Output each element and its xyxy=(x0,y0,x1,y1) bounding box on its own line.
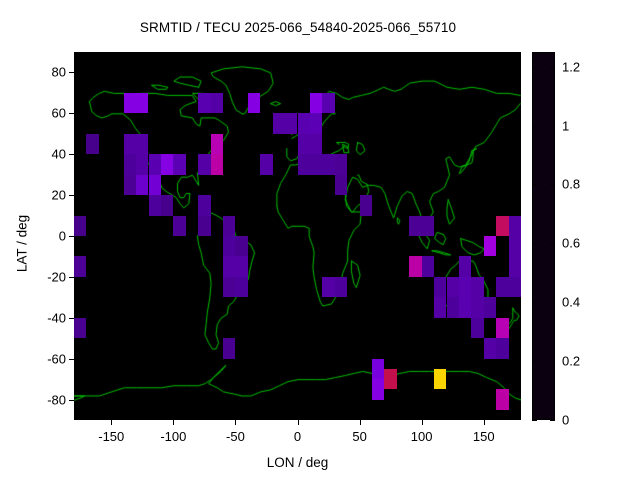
x-axis-title: LON / deg xyxy=(74,455,521,470)
colorbar-tick xyxy=(550,420,555,421)
heatmap-cell xyxy=(384,369,396,389)
x-axis-tick-label: 0 xyxy=(294,429,301,444)
heatmap-cell xyxy=(211,154,223,174)
heatmap-cell xyxy=(372,359,384,379)
heatmap-cell xyxy=(434,297,446,317)
colorbar-tick-label: 0.2 xyxy=(562,354,580,369)
x-axis-tick xyxy=(173,420,174,425)
colorbar-tick-label: 0.4 xyxy=(562,295,580,310)
heatmap-cell xyxy=(322,93,334,113)
colorbar-tick xyxy=(532,361,537,362)
colorbar-tick xyxy=(532,67,537,68)
colorbar xyxy=(532,52,555,420)
colorbar-tick xyxy=(550,302,555,303)
x-axis-tick-label: 100 xyxy=(411,429,433,444)
colorbar-tick-label: 1 xyxy=(562,118,569,133)
heatmap-cell xyxy=(310,93,322,113)
x-axis-tick-label: 150 xyxy=(473,429,495,444)
colorbar-tick xyxy=(532,184,537,185)
heatmap-cell xyxy=(322,277,334,297)
heatmap-cell xyxy=(471,318,483,338)
heatmap-cell xyxy=(310,154,322,174)
x-axis-tick-label: -100 xyxy=(160,429,186,444)
colorbar-tick xyxy=(550,184,555,185)
y-axis-title: LAT / deg xyxy=(15,184,30,304)
y-axis-tick xyxy=(69,236,74,237)
heatmap-cell xyxy=(471,277,483,297)
x-axis-tick-label: -50 xyxy=(226,429,245,444)
colorbar-tick-label: 0 xyxy=(562,413,569,428)
y-axis-tick-label: 40 xyxy=(32,147,66,162)
heatmap-cell xyxy=(198,154,210,174)
heatmap-cell xyxy=(260,154,272,174)
colorbar-tick-label: 0.8 xyxy=(562,177,580,192)
heatmap-cell xyxy=(273,113,285,133)
y-axis-tick-label: 60 xyxy=(32,106,66,121)
x-axis-tick xyxy=(298,420,299,425)
x-axis-tick xyxy=(111,420,112,425)
heatmap-cells-layer xyxy=(74,52,521,420)
heatmap-cell xyxy=(223,216,235,236)
heatmap-cell xyxy=(459,256,471,276)
colorbar-tick xyxy=(550,243,555,244)
heatmap-cell xyxy=(335,175,347,195)
heatmap-cell xyxy=(235,277,247,297)
heatmap-cell xyxy=(223,236,235,256)
heatmap-cell xyxy=(223,338,235,358)
heatmap-cell xyxy=(211,93,223,113)
x-axis-tick xyxy=(422,420,423,425)
y-axis-tick xyxy=(69,400,74,401)
heatmap-cell xyxy=(211,134,223,154)
heatmap-cell xyxy=(509,236,521,256)
heatmap-cell xyxy=(161,154,173,174)
heatmap-cell xyxy=(235,236,247,256)
heatmap-cell xyxy=(223,256,235,276)
heatmap-cell xyxy=(310,134,322,154)
heatmap-cell xyxy=(484,338,496,358)
y-axis-tick xyxy=(69,154,74,155)
heatmap-cell xyxy=(447,277,459,297)
heatmap-cell xyxy=(484,236,496,256)
plot-area xyxy=(74,52,521,420)
colorbar-tick xyxy=(532,243,537,244)
colorbar-tick xyxy=(532,302,537,303)
y-axis-tick-label: 80 xyxy=(32,65,66,80)
heatmap-cell xyxy=(409,216,421,236)
y-axis-tick xyxy=(69,195,74,196)
heatmap-cell xyxy=(422,256,434,276)
heatmap-cell xyxy=(335,154,347,174)
colorbar-gradient xyxy=(533,53,554,419)
heatmap-cell xyxy=(198,93,210,113)
heatmap-cell xyxy=(136,175,148,195)
heatmap-cell xyxy=(372,379,384,399)
heatmap-cell xyxy=(459,297,471,317)
heatmap-cell xyxy=(86,134,98,154)
colorbar-tick-label: 0.6 xyxy=(562,236,580,251)
heatmap-cell xyxy=(509,216,521,236)
heatmap-cell xyxy=(509,256,521,276)
heatmap-cell xyxy=(124,134,136,154)
y-axis-tick xyxy=(69,359,74,360)
heatmap-cell xyxy=(74,318,86,338)
heatmap-cell xyxy=(124,154,136,174)
y-axis-tick xyxy=(69,318,74,319)
heatmap-cell xyxy=(509,277,521,297)
colorbar-tick-label: 1.2 xyxy=(562,59,580,74)
heatmap-cell xyxy=(74,256,86,276)
heatmap-cell xyxy=(335,277,347,297)
chart-title: SRMTID / TECU 2025-066_54840-2025-066_55… xyxy=(0,20,596,35)
heatmap-cell xyxy=(248,93,260,113)
heatmap-cell xyxy=(298,113,310,133)
heatmap-cell xyxy=(136,93,148,113)
x-axis-tick-label: 50 xyxy=(352,429,366,444)
colorbar-tick xyxy=(532,420,537,421)
x-axis-tick xyxy=(360,420,361,425)
heatmap-cell xyxy=(136,154,148,174)
heatmap-cell xyxy=(298,154,310,174)
heatmap-cell xyxy=(149,154,161,174)
heatmap-cell xyxy=(173,216,185,236)
x-axis-tick-label: -150 xyxy=(98,429,124,444)
y-axis-tick-label: -40 xyxy=(32,310,66,325)
heatmap-cell xyxy=(496,216,508,236)
y-axis-tick-label: -60 xyxy=(32,351,66,366)
heatmap-cell xyxy=(496,389,508,409)
heatmap-cell xyxy=(223,277,235,297)
heatmap-cell xyxy=(496,277,508,297)
heatmap-cell xyxy=(434,277,446,297)
heatmap-cell xyxy=(136,134,148,154)
colorbar-tick xyxy=(532,126,537,127)
y-axis-tick-label: 0 xyxy=(32,229,66,244)
heatmap-cell xyxy=(459,277,471,297)
heatmap-cell xyxy=(447,297,459,317)
colorbar-tick xyxy=(550,126,555,127)
y-axis-tick xyxy=(69,113,74,114)
y-axis-tick xyxy=(69,277,74,278)
heatmap-cell xyxy=(173,154,185,174)
heatmap-cell xyxy=(471,297,483,317)
colorbar-tick xyxy=(550,67,555,68)
heatmap-cell xyxy=(74,216,86,236)
heatmap-cell xyxy=(409,256,421,276)
heatmap-cell xyxy=(322,154,334,174)
heatmap-cell xyxy=(124,93,136,113)
heatmap-cell xyxy=(422,216,434,236)
y-axis-tick xyxy=(69,72,74,73)
heatmap-cell xyxy=(161,195,173,215)
heatmap-cell xyxy=(310,113,322,133)
y-axis-tick-label: -80 xyxy=(32,392,66,407)
heatmap-cell xyxy=(124,175,136,195)
heatmap-cell xyxy=(285,113,297,133)
heatmap-cell xyxy=(496,318,508,338)
heatmap-cell xyxy=(484,297,496,317)
heatmap-cell xyxy=(235,256,247,276)
y-axis-tick-label: 20 xyxy=(32,188,66,203)
heatmap-cell xyxy=(149,195,161,215)
heatmap-cell xyxy=(298,134,310,154)
x-axis-tick xyxy=(235,420,236,425)
heatmap-cell xyxy=(198,195,210,215)
heatmap-cell xyxy=(496,338,508,358)
x-axis-tick xyxy=(484,420,485,425)
y-axis-tick-label: -20 xyxy=(32,269,66,284)
colorbar-tick xyxy=(550,361,555,362)
heatmap-cell xyxy=(149,175,161,195)
heatmap-cell xyxy=(360,195,372,215)
heatmap-cell xyxy=(434,369,446,389)
chart-root: SRMTID / TECU 2025-066_54840-2025-066_55… xyxy=(0,0,640,480)
heatmap-cell xyxy=(198,216,210,236)
